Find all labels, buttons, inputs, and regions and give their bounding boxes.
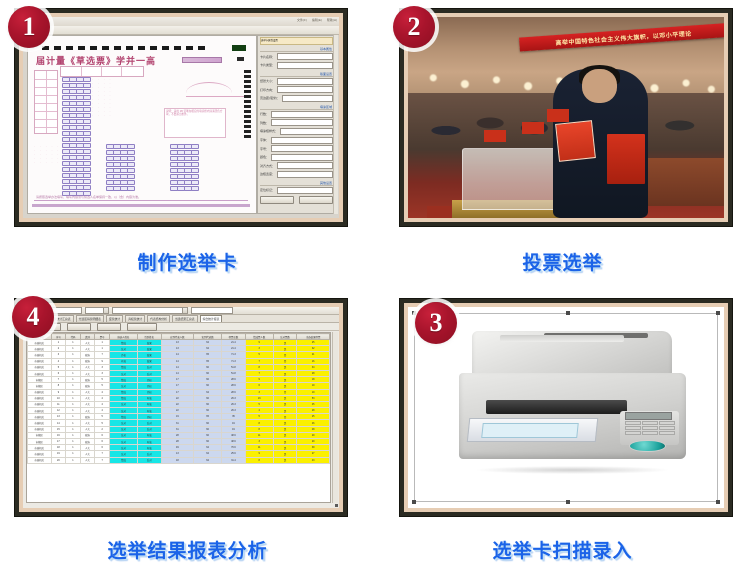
field-label: 边框宽度： [260, 172, 275, 176]
field-row[interactable]: 字体： [260, 137, 333, 144]
sidebar-header: 选举卡属性设置 [260, 37, 333, 45]
sidebar-group-layout: 版面设置 纸张大小： 打印方向： 页边距(毫米 [260, 72, 333, 102]
table-row[interactable]: 市直机关201人大7赞成反对186231.48是43 [28, 457, 330, 463]
ballot-dash-row [42, 46, 210, 50]
field-label: 卡片名称： [260, 55, 275, 59]
term-combo[interactable] [112, 307, 188, 314]
tab-elected-summary[interactable]: 当选结果汇总表 [172, 315, 198, 322]
photo-frame-4: 候选人名单 得票统计汇总表 分选区得票明细表 废票统计 弃权票统计 代表结构分析… [14, 298, 348, 517]
panel-4: 候选人名单 得票统计汇总表 分选区得票明细表 废票统计 弃权票统计 代表结构分析… [0, 284, 375, 568]
field-input[interactable] [271, 111, 333, 118]
scanner-shadow [477, 466, 668, 473]
ballot-timing-marks [244, 70, 251, 138]
photo-frame-2: 高举中国特色社会主义伟大旗帜，以邓小平理论 [399, 8, 733, 227]
menu-edit[interactable]: 编辑(E) [312, 18, 322, 22]
group-title: 其他设置 [260, 181, 333, 186]
scanner-body [459, 373, 687, 459]
frame-mat-1: 文件(F) 编辑(E) 帮助(H) 届计量《草选票》学并一高 [19, 13, 343, 222]
field-input[interactable] [277, 162, 333, 169]
apply-settings-button[interactable] [260, 196, 294, 204]
ballot-table-left [34, 70, 58, 134]
ballot-signature-line [186, 96, 244, 97]
results-table: 选举单位 序号 代码 类别 票号 候选人姓名 性别姓名 应到代表人数 实到代表数 [27, 333, 330, 464]
panel-1-image: 文件(F) 编辑(E) 帮助(H) 届计量《草选票》学并一高 [23, 17, 339, 218]
field-label: 颜色： [260, 155, 269, 159]
panel-2-image: 高举中国特色社会主义伟大旗帜，以邓小平理论 [408, 17, 724, 218]
export-button[interactable] [67, 323, 91, 331]
panel-4-image: 候选人名单 得票统计汇总表 分选区得票明细表 废票统计 弃权票统计 代表结构分析… [23, 307, 339, 508]
scanner-start-dial[interactable] [629, 440, 665, 452]
photo-frame-1: 文件(F) 编辑(E) 帮助(H) 届计量《草选票》学并一高 [14, 8, 348, 227]
table-cell[interactable]: 20 [51, 457, 66, 463]
table-cell[interactable]: 反对 [137, 457, 161, 463]
frame-mat-2: 高举中国特色社会主义伟大旗帜，以邓小平理论 [404, 13, 728, 222]
field-input[interactable] [277, 171, 333, 178]
panel-caption-2: 投票选举 [375, 248, 750, 275]
field-row[interactable]: 打印方向： [260, 86, 333, 93]
scanner-output-tray [500, 335, 624, 342]
field-label: 打印方向： [260, 88, 275, 92]
panel-3-image [408, 307, 724, 508]
step-badge-1: 1 [8, 6, 50, 48]
field-row[interactable]: 卡片名称： [260, 53, 333, 60]
results-grid[interactable]: 选举单位 序号 代码 类别 票号 候选人姓名 性别姓名 应到代表人数 实到代表数 [26, 332, 331, 503]
field-row[interactable]: 纸张大小： [260, 78, 333, 85]
scanner-feed-opening [486, 400, 627, 414]
ballot-black-block [232, 45, 246, 51]
field-input[interactable] [277, 53, 333, 60]
results-analysis-app: 候选人名单 得票统计汇总表 分选区得票明细表 废票统计 弃权票统计 代表结构分析… [23, 307, 339, 508]
tab-comprehensive-report[interactable]: 综合统计报表 [200, 315, 223, 322]
field-input[interactable] [277, 187, 333, 194]
table-cell[interactable]: 赞成 [109, 457, 137, 463]
scanner-display [625, 412, 673, 420]
field-row[interactable]: 页边距(毫米)： [260, 95, 333, 102]
selection-handle-bl[interactable] [412, 500, 416, 504]
table-cell[interactable]: 7 [95, 457, 110, 463]
ballot-bubbles-a [62, 77, 89, 196]
sidebar-group-basic: 基本属性 卡片名称： 卡片类型： [260, 47, 333, 69]
app4-vertical-scrollbar[interactable] [332, 332, 338, 503]
group-title: 填涂区域 [260, 105, 333, 110]
document-scanner [459, 331, 687, 480]
table-cell[interactable]: 43 [297, 457, 330, 463]
print-button[interactable] [97, 323, 121, 331]
ballot-arc [186, 82, 232, 93]
app1-scrollbar[interactable] [333, 35, 338, 214]
panel-caption-3: 选举卡扫描录入 [375, 536, 750, 563]
table-cell[interactable]: 62 [194, 457, 222, 463]
sidebar-group-marks: 填涂区域 行数： 列数： 填涂框样式： [260, 105, 333, 178]
field-input[interactable] [277, 62, 333, 69]
field-input[interactable] [271, 119, 333, 126]
table-cell[interactable]: 市直机关 [28, 457, 52, 463]
menu-help[interactable]: 帮助(H) [327, 18, 337, 22]
ballot-foot-line [34, 200, 248, 201]
ballot-dot-column-2: · · · · · ·· · · · · ·· · · · · ·· · · ·… [34, 144, 100, 164]
field-input[interactable] [271, 145, 333, 152]
table-cell[interactable]: 31.4 [222, 457, 246, 463]
ballot-designer-app: 文件(F) 编辑(E) 帮助(H) 届计量《草选票》学并一高 [23, 17, 339, 218]
field-label: 对齐方式： [260, 164, 275, 168]
group-title: 版面设置 [260, 72, 333, 77]
selection-handle-br[interactable] [716, 500, 720, 504]
delegate-ballot-b [522, 122, 544, 134]
ballot-marker-square [237, 57, 244, 61]
field-row[interactable]: 对齐方式： [260, 162, 333, 169]
field-label: 行数： [260, 112, 269, 116]
ballot-header-table [60, 66, 144, 77]
ballot-properties-panel[interactable]: 选举卡属性设置 基本属性 卡片名称： 卡片类型： [257, 35, 336, 214]
delegate-ballot-a [484, 130, 506, 142]
field-label: 字体： [260, 138, 269, 142]
table-cell[interactable]: 人大 [80, 457, 95, 463]
field-label: 页边距(毫米)： [260, 96, 280, 100]
extra-field[interactable] [191, 307, 233, 314]
table-body: 市直机关11人大1赞成结果136221.49是25市直机关21人大1反对结果13… [28, 340, 330, 464]
field-label: 字号： [260, 147, 269, 151]
ballot-canvas[interactable]: 届计量《草选票》学并一高 [27, 35, 257, 214]
table-cell[interactable]: 18 [161, 457, 194, 463]
table-cell[interactable]: 1 [66, 457, 81, 463]
field-input[interactable] [277, 78, 333, 85]
panel-caption-4: 选举结果报表分析 [0, 536, 375, 563]
menu-file[interactable]: 文件(F) [297, 18, 307, 22]
scanner-input-tray [466, 418, 598, 442]
ballot-envelope [555, 120, 596, 162]
red-folder [607, 134, 645, 184]
table-cell[interactable]: 8 [245, 457, 273, 463]
field-row[interactable]: 字号： [260, 145, 333, 152]
sidebar-button-row [260, 196, 333, 204]
step-badge-3: 3 [415, 302, 457, 344]
field-input[interactable] [271, 154, 333, 161]
officer-head [582, 69, 617, 103]
selection-handle-br[interactable] [335, 504, 338, 507]
field-input[interactable] [280, 128, 333, 135]
table-cell[interactable]: 是 [273, 457, 297, 463]
field-input[interactable] [282, 95, 333, 102]
field-label: 卡片类型： [260, 63, 275, 67]
refresh-button[interactable] [127, 323, 157, 331]
field-row[interactable]: 定位标记： [260, 187, 333, 194]
photo-grid: 文件(F) 编辑(E) 帮助(H) 届计量《草选票》学并一高 [0, 0, 750, 568]
panel-1: 文件(F) 编辑(E) 帮助(H) 届计量《草选票》学并一高 [0, 0, 375, 284]
ballot-bubbles-c [170, 144, 197, 191]
selection-handle-bc[interactable] [566, 500, 570, 504]
field-label: 纸张大小： [260, 79, 275, 83]
field-row[interactable]: 颜色： [260, 154, 333, 161]
ballot-dot-column: · · · ·· · · ·· · · ·· · · ·· · · ·· · ·… [92, 77, 142, 117]
tab-abstentions[interactable]: 弃权票统计 [125, 315, 145, 322]
tab-invalid-votes[interactable]: 废票统计 [106, 315, 123, 322]
field-row[interactable]: 填涂框样式： [260, 128, 333, 135]
app4-toolbar[interactable] [23, 307, 339, 315]
delegate-ballot-c [547, 109, 569, 121]
tab-district-detail[interactable]: 分选区得票明细表 [76, 315, 104, 322]
ballot-document: 届计量《草选票》学并一高 [28, 36, 256, 213]
selection-handle-tl[interactable] [412, 311, 416, 315]
group-title: 基本属性 [260, 47, 333, 52]
field-row[interactable]: 行数： [260, 111, 333, 118]
field-label: 列数： [260, 121, 269, 125]
voting-photograph: 高举中国特色社会主义伟大旗帜，以邓小平理论 [408, 17, 724, 218]
sidebar-group-other: 其他设置 定位标记： [260, 181, 333, 204]
ballot-bubbles-b [106, 144, 133, 191]
step-badge-2: 2 [393, 6, 435, 48]
field-label: 定位标记： [260, 188, 275, 192]
ballot-note: 说明：请用 2B 铅笔在相应的填涂框内涂满黑色方块，不要超出框外。 [164, 108, 226, 138]
app4-button-row[interactable] [23, 323, 339, 331]
ballot-footer-text: 请按照选举办法填写，填写内容须与候选人名单保持一致，以（含）内容为准。 [36, 195, 246, 199]
app1-toolbar[interactable] [23, 26, 339, 35]
field-row[interactable]: 卡片类型： [260, 62, 333, 69]
election-card-stack [481, 423, 579, 438]
scanner-photograph [408, 307, 724, 508]
panel-2: 高举中国特色社会主义伟大旗帜，以邓小平理论 [375, 0, 750, 284]
frame-mat-4: 候选人名单 得票统计汇总表 分选区得票明细表 废票统计 弃权票统计 代表结构分析… [19, 303, 343, 512]
ballot-color-bar [182, 57, 222, 63]
field-row[interactable]: 边框宽度： [260, 171, 333, 178]
panel-caption-1: 制作选举卡 [0, 248, 375, 275]
step-badge-4: 4 [12, 296, 54, 338]
field-input[interactable] [277, 86, 333, 93]
app1-menu[interactable]: 文件(F) 编辑(E) 帮助(H) [297, 18, 337, 22]
field-input[interactable] [271, 137, 333, 144]
field-label: 填涂框样式： [260, 129, 278, 133]
panel-3: 3 选举卡扫描录入 [375, 284, 750, 568]
ballot-foot-bar [32, 204, 250, 207]
selection-handle-tr[interactable] [716, 311, 720, 315]
term-label-box[interactable] [85, 307, 109, 314]
field-row[interactable]: 列数： [260, 119, 333, 126]
selection-handle-tc[interactable] [566, 311, 570, 315]
app4-tabs[interactable]: 候选人名单 得票统计汇总表 分选区得票明细表 废票统计 弃权票统计 代表结构分析… [23, 315, 339, 323]
tab-structure[interactable]: 代表结构分析 [147, 315, 170, 322]
scanner-keypad[interactable] [625, 421, 675, 435]
restore-defaults-button[interactable] [299, 196, 333, 204]
